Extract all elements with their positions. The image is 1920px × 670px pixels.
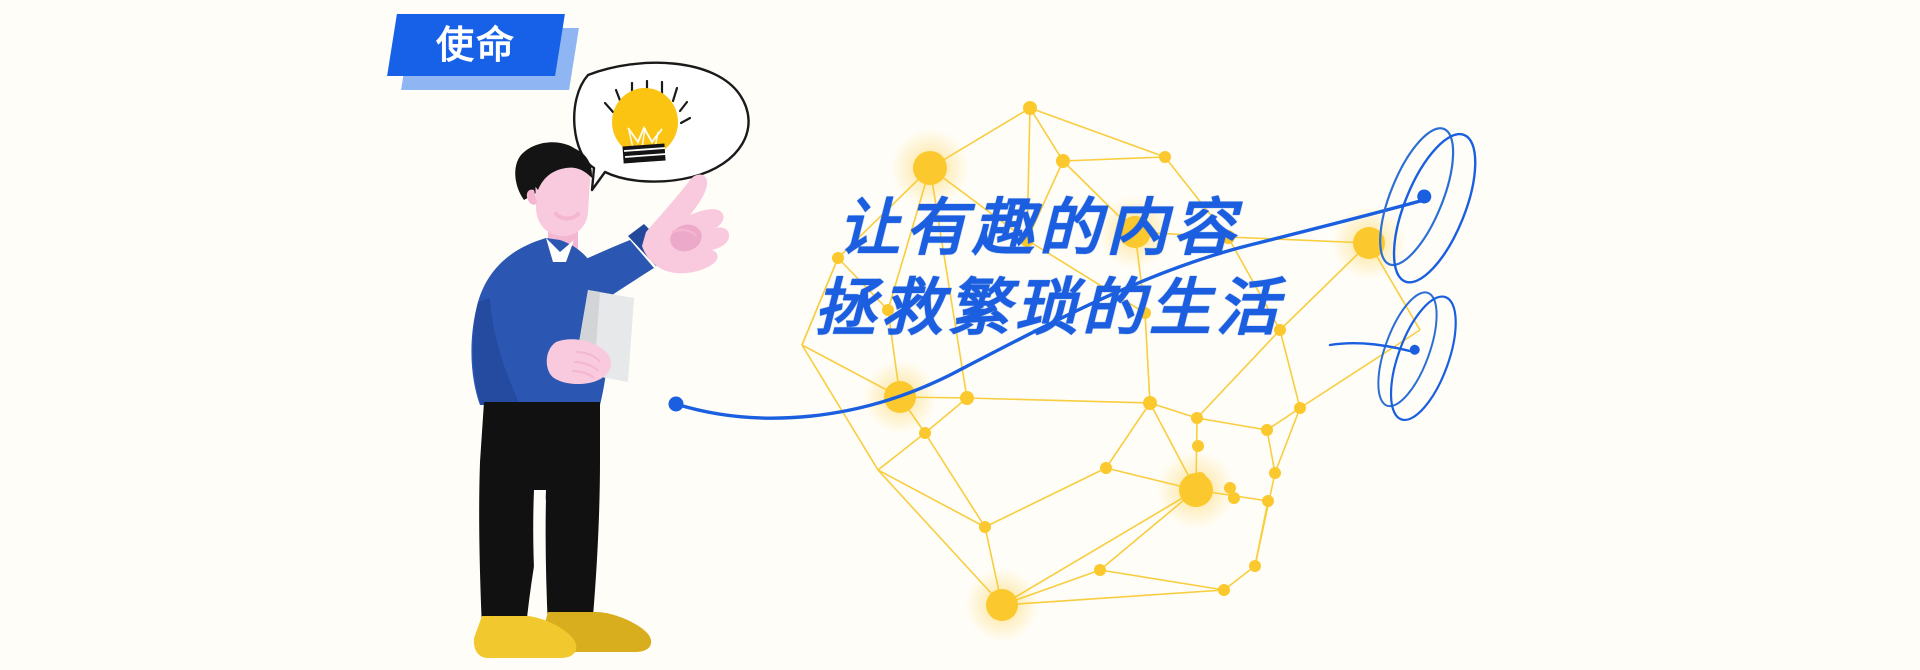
mission-badge: 使命	[392, 14, 570, 86]
headline-block: 让有趣的内容 拯救繁琐的生活	[838, 196, 1283, 340]
idea-speech-bubble	[574, 63, 748, 190]
character-trouser-split	[533, 490, 546, 628]
lightbulb-base	[622, 144, 666, 164]
mission-badge-label: 使命	[436, 26, 516, 64]
character-pointing-hand	[642, 174, 729, 273]
headline-line-1: 让有趣的内容	[838, 196, 1283, 260]
mission-banner: 让有趣的内容 拯救繁琐的生活 使命	[0, 0, 1920, 670]
mission-badge-plate: 使命	[387, 14, 565, 76]
headline-line-2: 拯救繁琐的生活	[814, 276, 1283, 340]
